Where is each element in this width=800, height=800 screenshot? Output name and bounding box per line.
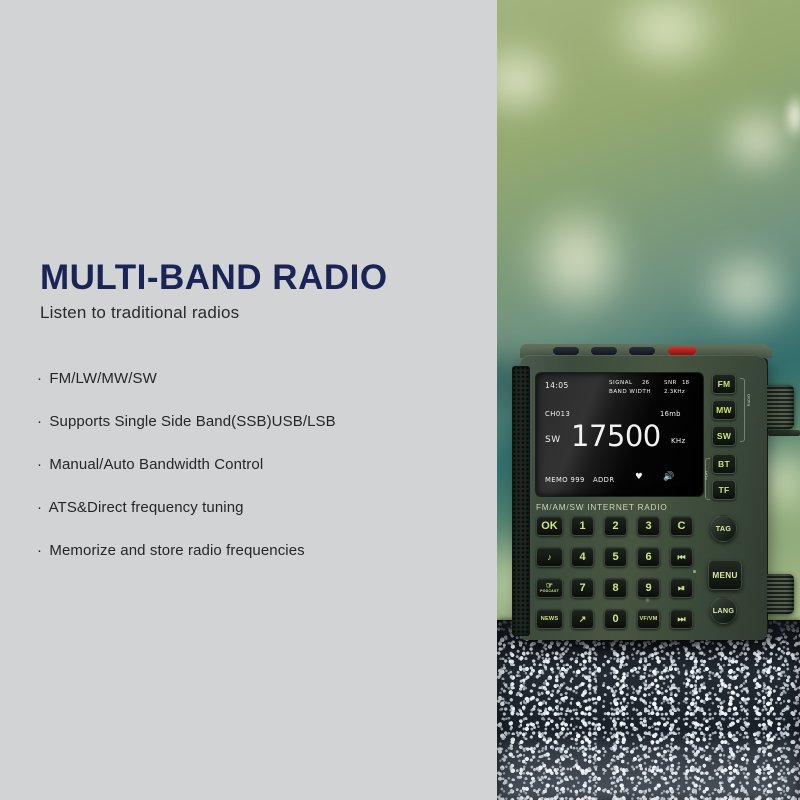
key-podcast-label: PODCAST [540, 590, 559, 594]
key-next-track-icon[interactable]: ⏭ [670, 609, 693, 629]
band-button-bt[interactable]: BT [712, 454, 736, 474]
lcd-signal-value: 26 [642, 380, 649, 386]
key-9[interactable]: 9 [637, 578, 660, 598]
list-item-label: Memorize and store radio frequencies [49, 542, 304, 559]
lcd-frequency-unit: KHz [671, 437, 685, 445]
top-button-1[interactable] [553, 347, 579, 355]
band-button-mw[interactable]: MW [712, 400, 736, 420]
status-led [693, 570, 696, 573]
lcd-display: 14:05 SIGNAL 26 SNR 18 BAND WIDTH 2.3KHz… [536, 373, 703, 496]
volume-icon: 🔊 [663, 473, 674, 482]
lcd-snr-value: 18 [682, 380, 689, 386]
list-item: · FM/LW/MW/SW [37, 370, 467, 387]
rock-foreground-blur [497, 740, 800, 800]
lcd-signal-label: SIGNAL [609, 380, 633, 386]
list-item: · Memorize and store radio frequencies [37, 542, 467, 559]
key-0[interactable]: 0 [604, 609, 627, 629]
bullet-icon: · [37, 456, 42, 473]
key-2[interactable]: 2 [604, 516, 627, 536]
lcd-channel: CH013 [545, 410, 570, 418]
product-feature-slide: MULTI-BAND RADIO Listen to traditional r… [0, 0, 800, 800]
lcd-bandwidth-label: BAND WIDTH [609, 389, 651, 395]
page-title: MULTI-BAND RADIO [40, 258, 388, 298]
key-music-icon[interactable]: ♪ [536, 547, 563, 567]
lcd-meter-band: 16mb [660, 410, 681, 418]
page-subtitle: Listen to traditional radios [40, 303, 239, 323]
list-item: · Manual/Auto Bandwidth Control [37, 456, 467, 473]
key-vf-vm[interactable]: VF/VM [637, 609, 660, 629]
lcd-addr: ADDR [593, 476, 614, 484]
volume-knob-bottom[interactable] [764, 574, 794, 614]
key-ok[interactable]: OK [536, 516, 563, 536]
band-button-tf[interactable]: TF [712, 480, 736, 500]
bullet-icon: · [37, 499, 42, 516]
band-button-sw[interactable]: SW [712, 426, 736, 446]
top-button-3[interactable] [629, 347, 655, 355]
antenna-stub [768, 430, 800, 436]
power-button[interactable] [668, 347, 696, 355]
list-item-label: FM/LW/MW/SW [49, 370, 156, 387]
list-item: · ATS&Direct frequency tuning [37, 499, 467, 516]
key-4[interactable]: 4 [571, 547, 594, 567]
list-item-label: Supports Single Side Band(SSB)USB/LSB [49, 413, 335, 430]
radio-group-bracket [740, 378, 745, 442]
play-group-label: PLAY [704, 471, 708, 480]
copy-panel: MULTI-BAND RADIO Listen to traditional r… [0, 0, 497, 800]
key-previous-track-icon[interactable]: ⏮ [670, 547, 693, 567]
light-highlight [784, 92, 800, 140]
bullet-icon: · [37, 542, 42, 559]
band-button-fm[interactable]: FM [712, 374, 736, 394]
tuning-knob-top[interactable] [764, 385, 794, 429]
list-item-label: Manual/Auto Bandwidth Control [49, 456, 263, 473]
lcd-frequency: 17500 [571, 419, 661, 453]
top-button-2[interactable] [591, 347, 617, 355]
tag-button[interactable]: TAG [710, 515, 737, 542]
microphone-icon [645, 598, 650, 603]
lcd-bandwidth-value: 2.3KHz [664, 389, 685, 395]
key-8[interactable]: 8 [604, 578, 627, 598]
radio-group-label: RADIO [747, 394, 751, 406]
key-7[interactable]: 7 [571, 578, 594, 598]
key-6[interactable]: 6 [637, 547, 660, 567]
list-item: · Supports Single Side Band(SSB)USB/LSB [37, 413, 467, 430]
key-edit-icon[interactable]: ↗ [571, 609, 594, 629]
key-news[interactable]: NEWS [536, 609, 563, 629]
device-model-label: FM/AM/SW INTERNET RADIO [536, 503, 668, 512]
key-podcast[interactable]: ☞ PODCAST [536, 578, 563, 598]
menu-button[interactable]: MENU [708, 560, 742, 590]
heart-icon: ♥ [635, 473, 643, 482]
key-3[interactable]: 3 [637, 516, 660, 536]
key-clear[interactable]: C [670, 516, 693, 536]
lcd-memo: MEMO 999 [545, 476, 585, 484]
lcd-band-mode: SW [545, 435, 561, 445]
lang-button[interactable]: LANG [710, 597, 737, 624]
key-play-pause-icon[interactable]: ⏯ [670, 578, 693, 598]
key-1[interactable]: 1 [571, 516, 594, 536]
bullet-icon: · [37, 370, 42, 387]
bullet-icon: · [37, 413, 42, 430]
lcd-clock: 14:05 [545, 381, 569, 390]
list-item-label: ATS&Direct frequency tuning [49, 499, 244, 516]
lcd-snr-label: SNR [664, 380, 677, 386]
feature-list: · FM/LW/MW/SW · Supports Single Side Ban… [37, 370, 467, 585]
key-5[interactable]: 5 [604, 547, 627, 567]
speaker-grille [512, 366, 530, 636]
